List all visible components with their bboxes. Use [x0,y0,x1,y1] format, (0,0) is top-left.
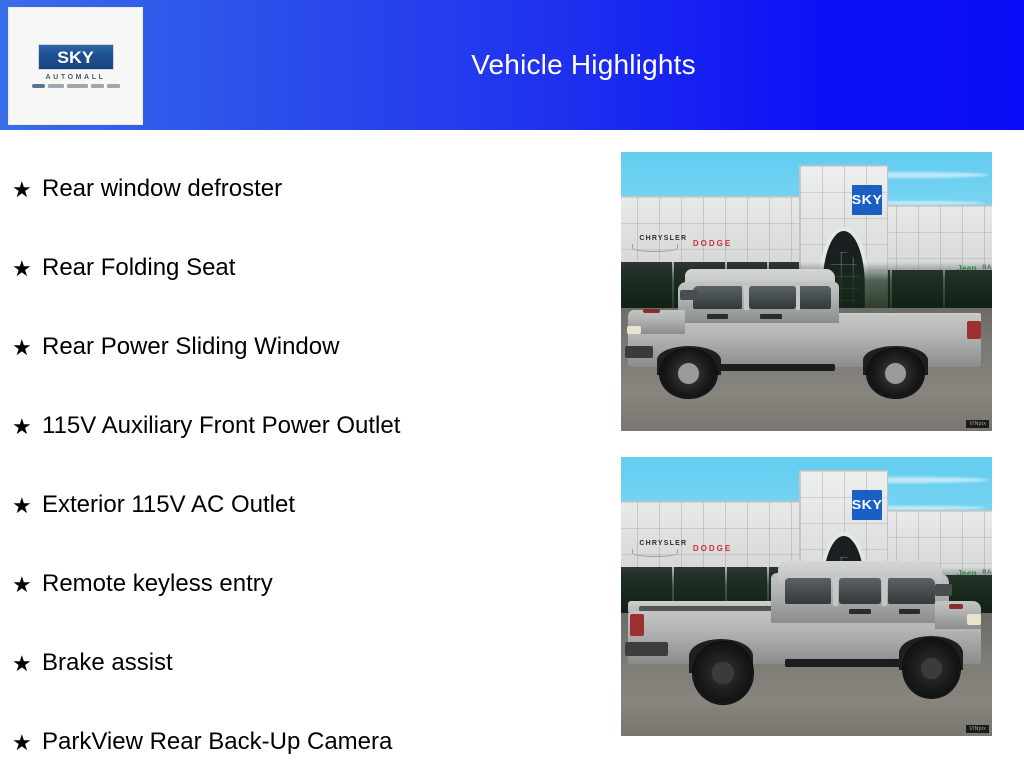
dodge-sign: DODGE [693,239,732,248]
dodge-brandmark-icon [48,84,64,88]
automall-logo-subtitle: AUTOMALL [46,74,106,81]
page-title: Vehicle Highlights [143,0,1024,130]
jeep-brandmark-icon [91,84,104,88]
ram-brandmark-icon [67,84,88,88]
sky-sign-text: SKY [852,192,883,207]
chrysler-wing-icon [632,244,678,252]
photo-watermark: VINpix [966,725,989,733]
vehicle-truck-rear-quarter [628,557,984,713]
sky-logo-plate: SKY [38,44,114,70]
star-icon: ★ [12,653,42,675]
star-icon: ★ [12,416,42,438]
logo-inner: SKY AUTOMALL [32,44,120,88]
vehicle-photo-passenger-rear[interactable]: CHRYSLER DODGE Jeep RAM SKY [621,457,992,736]
feature-label: 115V Auxiliary Front Power Outlet [42,413,400,439]
feature-list: ★ Rear window defroster ★ Rear Folding S… [0,130,600,768]
chrysler-sign: CHRYSLER [639,540,687,547]
sky-sign-text: SKY [852,497,883,512]
list-item: ★ Rear window defroster [0,150,600,229]
photo-watermark: VINpix [966,420,989,428]
list-item: ★ Rear Folding Seat [0,229,600,308]
vehicle-photo-driver-side[interactable]: CHRYSLER DODGE Jeep RAM SKY [621,152,992,431]
sky-sign: SKY [852,490,882,520]
list-item: ★ 115V Auxiliary Front Power Outlet [0,387,600,466]
star-icon: ★ [12,574,42,596]
feature-label: Rear Power Sliding Window [42,334,339,360]
list-item: ★ Remote keyless entry [0,545,600,624]
list-item: ★ Rear Power Sliding Window [0,308,600,387]
star-icon: ★ [12,732,42,754]
feature-label: Remote keyless entry [42,571,273,597]
vehicle-truck-side [628,272,984,400]
list-item: ★ Brake assist [0,624,600,703]
wagoneer-brandmark-icon [107,84,120,88]
chrysler-sign: CHRYSLER [639,235,687,242]
page-header: SKY AUTOMALL Vehicle Highlights [0,0,1024,130]
list-item: ★ Exterior 115V AC Outlet [0,466,600,545]
feature-label: ParkView Rear Back-Up Camera [42,729,392,755]
dodge-sign: DODGE [693,544,732,553]
feature-label: Brake assist [42,650,173,676]
feature-label: Rear window defroster [42,176,282,202]
list-item: ★ ParkView Rear Back-Up Camera [0,703,600,782]
star-icon: ★ [12,337,42,359]
chrysler-brandmark-icon [32,84,45,88]
sky-logo-text: SKY [57,49,94,66]
star-icon: ★ [12,258,42,280]
dealership-logo[interactable]: SKY AUTOMALL [8,7,143,125]
chrysler-wing-icon [632,549,678,557]
brand-marks-row [32,84,120,88]
sky-sign: SKY [852,185,882,215]
feature-label: Exterior 115V AC Outlet [42,492,295,518]
feature-label: Rear Folding Seat [42,255,235,281]
star-icon: ★ [12,495,42,517]
star-icon: ★ [12,179,42,201]
